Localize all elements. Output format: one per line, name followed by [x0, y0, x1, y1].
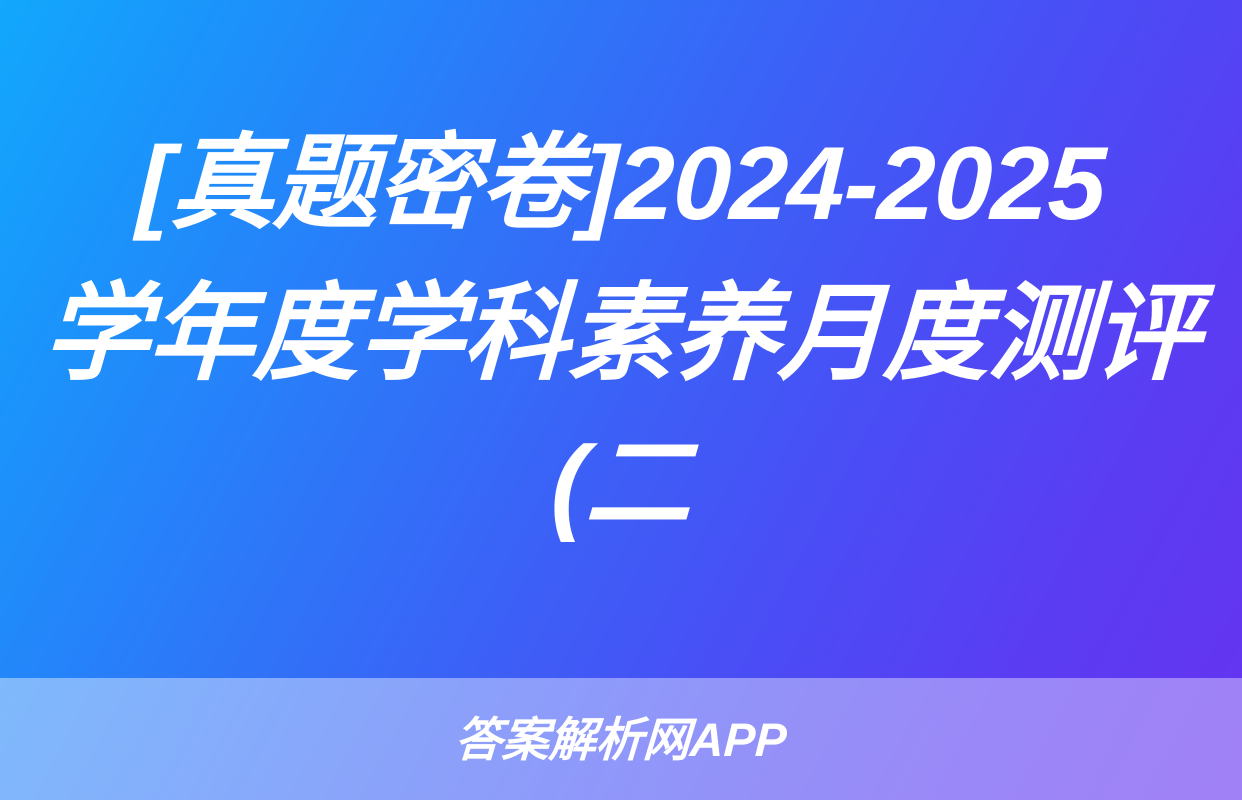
app-watermark-label: 答案解析网APP	[454, 716, 788, 763]
cover-image: [真题密卷]2024-2025 学年度学科素养月度测评 (二 答案解析网APP	[0, 0, 1242, 800]
title-line-2: 学年度学科素养月度测评	[21, 259, 1220, 409]
title-line-1: [真题密卷]2024-2025	[21, 109, 1220, 259]
title-line-3: (二	[21, 409, 1220, 559]
footer-band: 答案解析网APP	[0, 678, 1242, 800]
title-block: [真题密卷]2024-2025 学年度学科素养月度测评 (二	[0, 0, 1242, 678]
